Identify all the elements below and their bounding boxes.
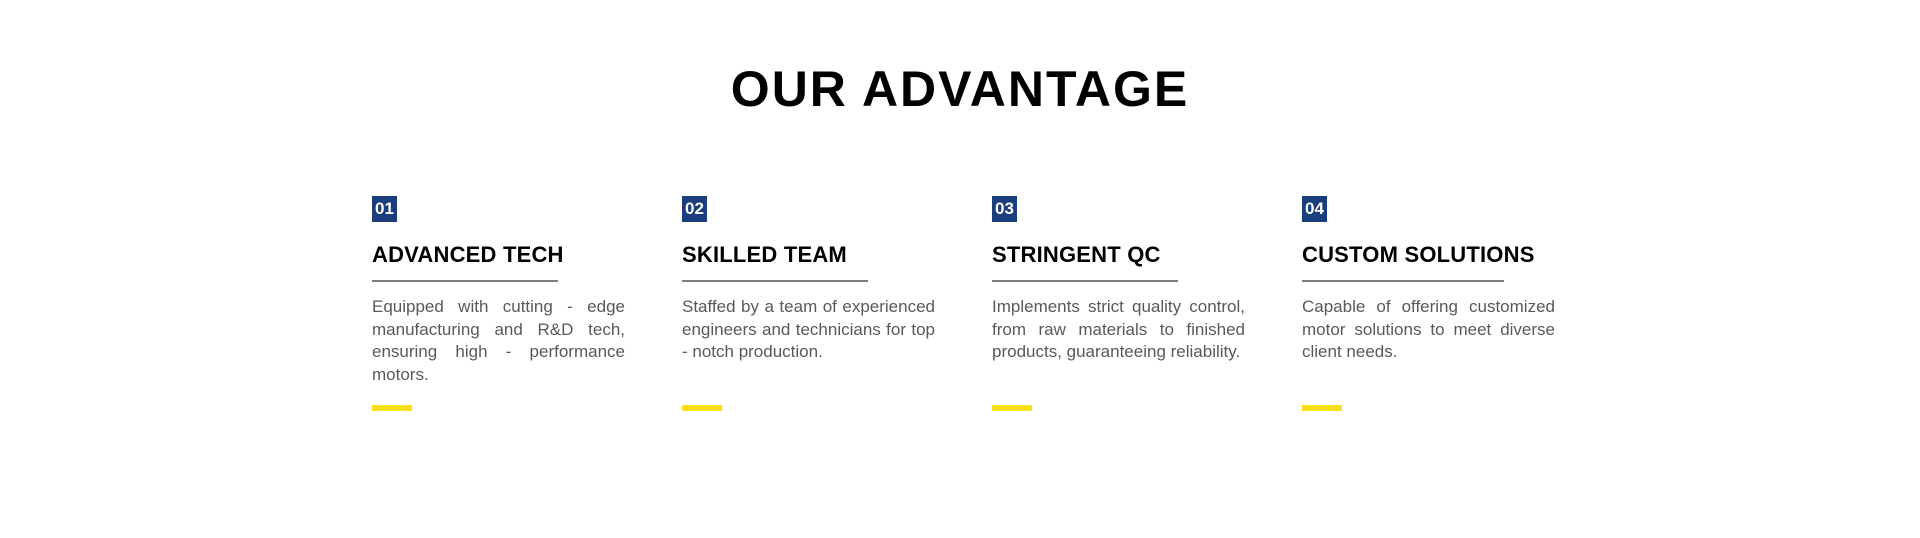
card-accent-bar (1302, 405, 1342, 411)
advantage-card-4: 04 CUSTOM SOLUTIONS Capable of offering … (1302, 196, 1555, 386)
card-heading: STRINGENT QC (992, 242, 1245, 267)
card-divider (992, 280, 1178, 282)
card-number-badge: 01 (372, 196, 397, 222)
card-number-badge: 02 (682, 196, 707, 222)
card-body-text: Equipped with cutting - edge manufacturi… (372, 296, 625, 386)
card-divider (1302, 280, 1504, 282)
card-accent-bar (682, 405, 722, 411)
card-heading: ADVANCED TECH (372, 242, 625, 267)
card-body-text: Staffed by a team of experienced enginee… (682, 296, 935, 364)
card-body-text: Implements strict quality control, from … (992, 296, 1245, 364)
card-number-badge: 04 (1302, 196, 1327, 222)
card-accent-bar (992, 405, 1032, 411)
card-number-badge: 03 (992, 196, 1017, 222)
page-title: OUR ADVANTAGE (0, 62, 1920, 117)
card-body-text: Capable of offering customized motor sol… (1302, 296, 1555, 364)
advantage-card-list: 01 ADVANCED TECH Equipped with cutting -… (372, 196, 1572, 386)
card-heading: SKILLED TEAM (682, 242, 935, 267)
card-accent-bar (372, 405, 412, 411)
advantage-card-3: 03 STRINGENT QC Implements strict qualit… (992, 196, 1245, 386)
card-divider (372, 280, 558, 282)
card-heading: CUSTOM SOLUTIONS (1302, 242, 1555, 267)
advantage-card-1: 01 ADVANCED TECH Equipped with cutting -… (372, 196, 625, 386)
advantage-section: OUR ADVANTAGE 01 ADVANCED TECH Equipped … (0, 0, 1920, 538)
card-divider (682, 280, 868, 282)
advantage-card-2: 02 SKILLED TEAM Staffed by a team of exp… (682, 196, 935, 386)
